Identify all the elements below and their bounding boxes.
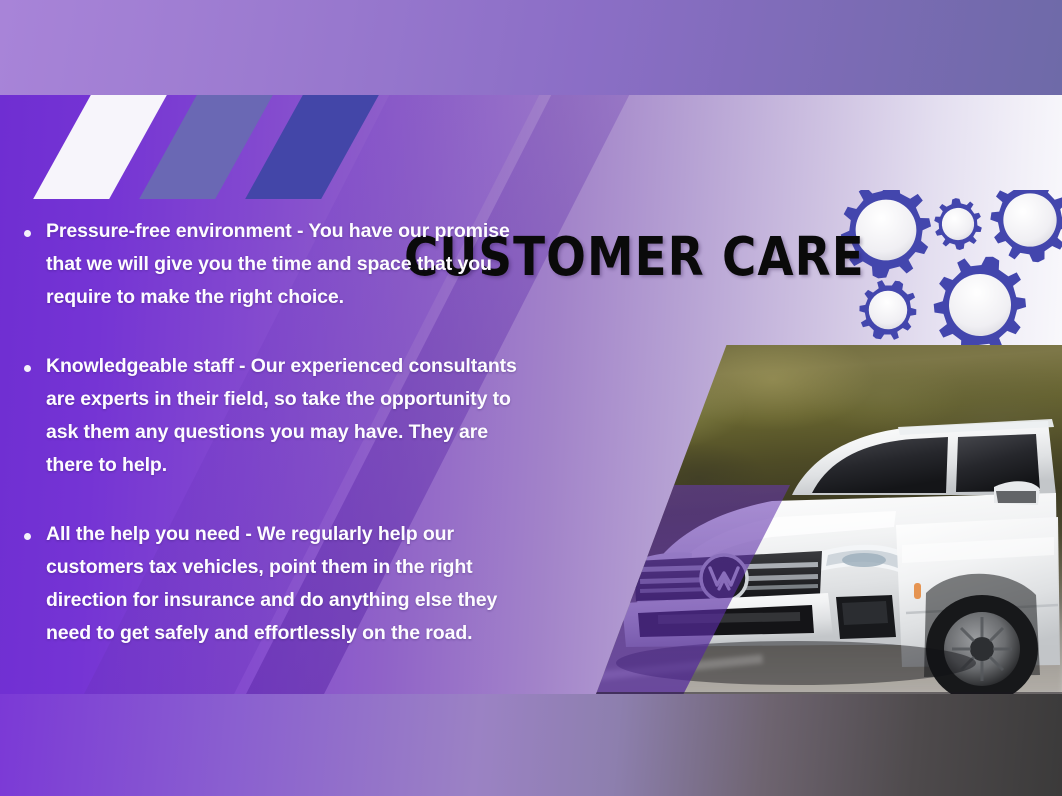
white-suv-photo <box>596 345 1062 694</box>
backdrop-top-band <box>0 0 1062 96</box>
photo-bottom-edge <box>596 692 1062 694</box>
list-item: Knowledgeable staff - Our experienced co… <box>18 350 518 482</box>
list-item: All the help you need - We regularly hel… <box>18 518 518 650</box>
bullet-dot-icon <box>24 365 31 372</box>
list-item: Pressure-free environment - You have our… <box>18 215 518 314</box>
bullet-text-all-the-help-you-need: All the help you need - We regularly hel… <box>46 518 518 650</box>
backdrop-bottom-band <box>0 693 1062 796</box>
bullet-text-knowledgeable-staff: Knowledgeable staff - Our experienced co… <box>46 350 518 482</box>
bullet-text-pressure-free-environment: Pressure-free environment - You have our… <box>46 215 518 314</box>
slide-body: CUSTOMER CARE Pressure-free environment … <box>0 95 1062 694</box>
bullet-dot-icon <box>24 230 31 237</box>
gears-icon <box>830 190 1062 350</box>
bullet-dot-icon <box>24 533 31 540</box>
bullet-list: Pressure-free environment - You have our… <box>18 215 518 686</box>
slide-canvas: CUSTOMER CARE Pressure-free environment … <box>0 0 1062 796</box>
